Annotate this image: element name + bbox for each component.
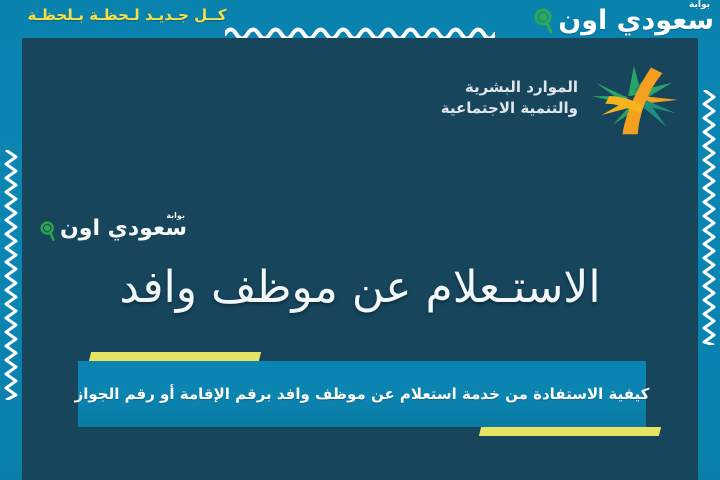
site-logo-kicker: بوابة [689,0,710,10]
yellow-accent-bar-bottom [479,427,661,436]
site-logo[interactable]: بوابة سعودي اون [532,1,714,37]
watermark-logo: بوابة سعودي اون [40,216,187,242]
header-tagline: كــل جـديـد لـحظـة بـلحظـة [12,6,242,24]
page-title: الاستـعلام عن موظف وافد [0,262,720,313]
promo-banner: كــل جـديـد لـحظـة بـلحظـة بوابة سعودي ا… [0,0,720,480]
ministry-name-line1: الموارد البشرية [441,77,578,98]
watermark-kicker: بوابة [166,211,185,220]
zigzag-line-icon-left [3,150,19,400]
ministry-logo: الموارد البشرية والتنمية الاجتماعية [441,58,680,138]
magnifier-icon [534,8,554,36]
ministry-name-line2: والتنمية الاجتماعية [441,98,578,119]
caption-bar: كيفية الاستفادة من خدمة استعلام عن موظف … [78,361,646,427]
magnifier-icon [40,221,56,243]
wave-divider-icon [225,24,495,38]
yellow-accent-bar-top [89,352,261,361]
caption-text: كيفية الاستفادة من خدمة استعلام عن موظف … [75,384,650,405]
palm-star-emblem-icon [584,58,680,138]
banner-header: كــل جـديـد لـحظـة بـلحظـة بوابة سعودي ا… [0,0,720,38]
zigzag-line-icon-right [701,90,717,345]
ministry-name: الموارد البشرية والتنمية الاجتماعية [441,77,578,120]
